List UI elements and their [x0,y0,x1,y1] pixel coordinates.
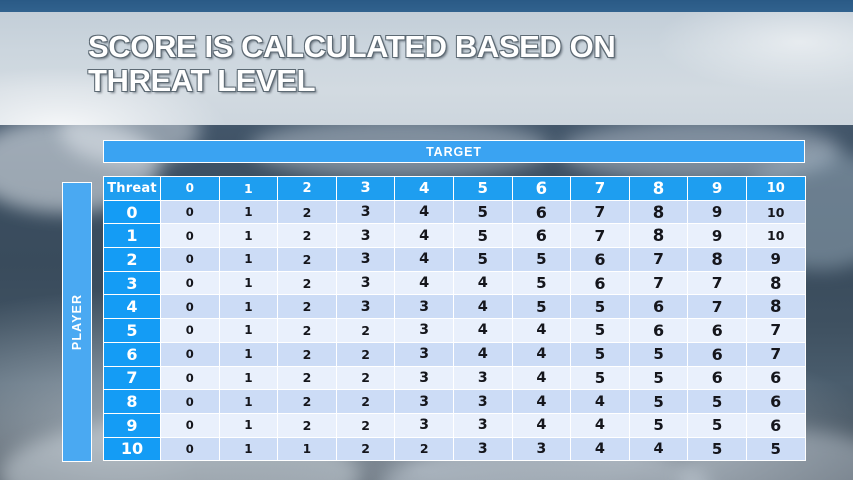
matrix-cell-r9-c5: 3 [453,413,512,437]
matrix-cell-r10-c2: 1 [278,437,337,461]
matrix-row-header-0: 0 [104,200,161,224]
matrix-cell-r6-c8: 5 [629,342,688,366]
matrix-cell-r3-c6: 5 [512,271,571,295]
matrix-cell-r3-c7: 6 [571,271,630,295]
matrix-col-header-2: 2 [278,177,337,201]
matrix-cell-r3-c0: 0 [161,271,220,295]
matrix-cell-r4-c2: 2 [278,295,337,319]
target-axis-banner: TARGET [103,140,805,163]
table-row: 601223445567 [104,342,806,366]
table-row: 1001122334455 [104,437,806,461]
matrix-cell-r8-c5: 3 [453,390,512,414]
matrix-cell-r6-c6: 4 [512,342,571,366]
matrix-cell-r6-c4: 3 [395,342,454,366]
matrix-row-header-3: 3 [104,271,161,295]
player-axis-banner: PLAYER [62,182,92,462]
matrix-cell-r9-c3: 2 [336,413,395,437]
matrix-row-header-4: 4 [104,295,161,319]
matrix-cell-r1-c0: 0 [161,224,220,248]
top-accent-strip [0,0,853,12]
matrix-cell-r0-c4: 4 [395,200,454,224]
matrix-cell-r7-c5: 3 [453,366,512,390]
matrix-cell-r2-c3: 3 [336,248,395,272]
matrix-cell-r10-c5: 3 [453,437,512,461]
matrix-cell-r5-c3: 2 [336,319,395,343]
matrix-cell-r3-c5: 4 [453,271,512,295]
table-row: 301234456778 [104,271,806,295]
matrix-cell-r8-c7: 4 [571,390,630,414]
matrix-row-header-8: 8 [104,390,161,414]
matrix-cell-r0-c2: 2 [278,200,337,224]
matrix-cell-r0-c3: 3 [336,200,395,224]
matrix-cell-r6-c1: 1 [219,342,278,366]
matrix-cell-r5-c0: 0 [161,319,220,343]
matrix-body: 0012345678910101234567891020123455678930… [104,200,806,461]
matrix-cell-r6-c5: 4 [453,342,512,366]
matrix-cell-r7-c3: 2 [336,366,395,390]
matrix-cell-r4-c3: 3 [336,295,395,319]
matrix-header-row: Threat 0 1 2 3 4 5 6 7 8 9 10 [104,177,806,201]
matrix-cell-r0-c1: 1 [219,200,278,224]
matrix-cell-r6-c7: 5 [571,342,630,366]
matrix-cell-r7-c7: 5 [571,366,630,390]
matrix-cell-r8-c2: 2 [278,390,337,414]
matrix-cell-r4-c0: 0 [161,295,220,319]
matrix-corner-header: Threat [104,177,161,201]
matrix-cell-r4-c10: 8 [746,295,805,319]
matrix-cell-r5-c5: 4 [453,319,512,343]
score-matrix-table: Threat 0 1 2 3 4 5 6 7 8 9 10 0012345678… [103,176,806,461]
table-row: 401233455678 [104,295,806,319]
matrix-cell-r4-c6: 5 [512,295,571,319]
slide-canvas: Score is calculated based on threat leve… [0,0,853,480]
matrix-cell-r10-c4: 2 [395,437,454,461]
matrix-cell-r7-c10: 6 [746,366,805,390]
matrix-cell-r10-c7: 4 [571,437,630,461]
matrix-cell-r8-c0: 0 [161,390,220,414]
matrix-cell-r5-c7: 5 [571,319,630,343]
matrix-cell-r2-c0: 0 [161,248,220,272]
matrix-cell-r4-c4: 3 [395,295,454,319]
matrix-cell-r0-c6: 6 [512,200,571,224]
matrix-cell-r4-c9: 7 [688,295,747,319]
matrix-cell-r9-c6: 4 [512,413,571,437]
matrix-row-header-6: 6 [104,342,161,366]
page-title: Score is calculated based on threat leve… [88,30,788,98]
table-row: 701223345566 [104,366,806,390]
matrix-row-header-5: 5 [104,319,161,343]
matrix-cell-r5-c6: 4 [512,319,571,343]
matrix-row-header-10: 10 [104,437,161,461]
matrix-cell-r2-c5: 5 [453,248,512,272]
matrix-cell-r3-c2: 2 [278,271,337,295]
matrix-cell-r10-c1: 1 [219,437,278,461]
matrix-cell-r9-c0: 0 [161,413,220,437]
matrix-cell-r7-c6: 4 [512,366,571,390]
matrix-cell-r8-c8: 5 [629,390,688,414]
matrix-cell-r7-c2: 2 [278,366,337,390]
matrix-cell-r5-c4: 3 [395,319,454,343]
matrix-col-header-6: 6 [512,177,571,201]
matrix-row-header-7: 7 [104,366,161,390]
table-row: 501223445667 [104,319,806,343]
matrix-col-header-10: 10 [746,177,805,201]
matrix-cell-r2-c6: 5 [512,248,571,272]
matrix-cell-r9-c1: 1 [219,413,278,437]
matrix-cell-r10-c9: 5 [688,437,747,461]
matrix-cell-r0-c0: 0 [161,200,220,224]
matrix-cell-r6-c3: 2 [336,342,395,366]
matrix-cell-r0-c7: 7 [571,200,630,224]
matrix-cell-r2-c9: 8 [688,248,747,272]
matrix-header: Threat 0 1 2 3 4 5 6 7 8 9 10 [104,177,806,201]
matrix-cell-r6-c0: 0 [161,342,220,366]
matrix-cell-r8-c1: 1 [219,390,278,414]
matrix-cell-r2-c1: 1 [219,248,278,272]
matrix-cell-r9-c10: 6 [746,413,805,437]
matrix-cell-r0-c8: 8 [629,200,688,224]
matrix-cell-r5-c2: 2 [278,319,337,343]
matrix-cell-r4-c1: 1 [219,295,278,319]
player-axis-label: PLAYER [70,294,84,350]
matrix-cell-r4-c5: 4 [453,295,512,319]
matrix-cell-r9-c4: 3 [395,413,454,437]
matrix-cell-r8-c6: 4 [512,390,571,414]
matrix-cell-r8-c9: 5 [688,390,747,414]
matrix-cell-r1-c8: 8 [629,224,688,248]
table-row: 0012345678910 [104,200,806,224]
matrix-col-header-9: 9 [688,177,747,201]
matrix-col-header-3: 3 [336,177,395,201]
matrix-cell-r1-c9: 9 [688,224,747,248]
matrix-cell-r3-c3: 3 [336,271,395,295]
matrix-cell-r1-c2: 2 [278,224,337,248]
matrix-cell-r6-c10: 7 [746,342,805,366]
table-row: 1012345678910 [104,224,806,248]
matrix-cell-r9-c7: 4 [571,413,630,437]
matrix-cell-r8-c10: 6 [746,390,805,414]
matrix-cell-r9-c9: 5 [688,413,747,437]
matrix-cell-r4-c8: 6 [629,295,688,319]
matrix-cell-r7-c0: 0 [161,366,220,390]
table-row: 901223344556 [104,413,806,437]
matrix-cell-r4-c7: 5 [571,295,630,319]
matrix-row-header-2: 2 [104,248,161,272]
matrix-col-header-5: 5 [453,177,512,201]
matrix-cell-r9-c8: 5 [629,413,688,437]
matrix-cell-r0-c5: 5 [453,200,512,224]
matrix-cell-r1-c6: 6 [512,224,571,248]
matrix-cell-r5-c1: 1 [219,319,278,343]
matrix-cell-r10-c3: 2 [336,437,395,461]
target-axis-label: TARGET [426,145,482,159]
matrix-row-header-1: 1 [104,224,161,248]
matrix-cell-r9-c2: 2 [278,413,337,437]
matrix-cell-r1-c7: 7 [571,224,630,248]
matrix-cell-r6-c9: 6 [688,342,747,366]
matrix-cell-r1-c4: 4 [395,224,454,248]
matrix-cell-r2-c4: 4 [395,248,454,272]
matrix-cell-r8-c3: 2 [336,390,395,414]
matrix-cell-r3-c10: 8 [746,271,805,295]
matrix-cell-r3-c1: 1 [219,271,278,295]
matrix-cell-r7-c1: 1 [219,366,278,390]
matrix-cell-r2-c2: 2 [278,248,337,272]
matrix-cell-r1-c5: 5 [453,224,512,248]
matrix-cell-r3-c8: 7 [629,271,688,295]
matrix-cell-r3-c4: 4 [395,271,454,295]
matrix-col-header-8: 8 [629,177,688,201]
matrix-cell-r10-c6: 3 [512,437,571,461]
table-row: 201234556789 [104,248,806,272]
matrix-cell-r0-c9: 9 [688,200,747,224]
matrix-cell-r5-c9: 6 [688,319,747,343]
matrix-cell-r8-c4: 3 [395,390,454,414]
table-row: 801223344556 [104,390,806,414]
matrix-cell-r1-c3: 3 [336,224,395,248]
matrix-col-header-4: 4 [395,177,454,201]
matrix-cell-r10-c0: 0 [161,437,220,461]
matrix-cell-r10-c8: 4 [629,437,688,461]
matrix-cell-r6-c2: 2 [278,342,337,366]
matrix-cell-r1-c1: 1 [219,224,278,248]
matrix-cell-r0-c10: 10 [746,200,805,224]
matrix-cell-r1-c10: 10 [746,224,805,248]
matrix-cell-r7-c4: 3 [395,366,454,390]
matrix-cell-r2-c7: 6 [571,248,630,272]
matrix-cell-r10-c10: 5 [746,437,805,461]
matrix-col-header-1: 1 [219,177,278,201]
matrix-cell-r7-c8: 5 [629,366,688,390]
matrix-cell-r5-c8: 6 [629,319,688,343]
matrix-row-header-9: 9 [104,413,161,437]
matrix-col-header-7: 7 [571,177,630,201]
matrix-cell-r7-c9: 6 [688,366,747,390]
matrix-cell-r3-c9: 7 [688,271,747,295]
matrix-cell-r2-c10: 9 [746,248,805,272]
matrix-col-header-0: 0 [161,177,220,201]
matrix-cell-r5-c10: 7 [746,319,805,343]
matrix-cell-r2-c8: 7 [629,248,688,272]
